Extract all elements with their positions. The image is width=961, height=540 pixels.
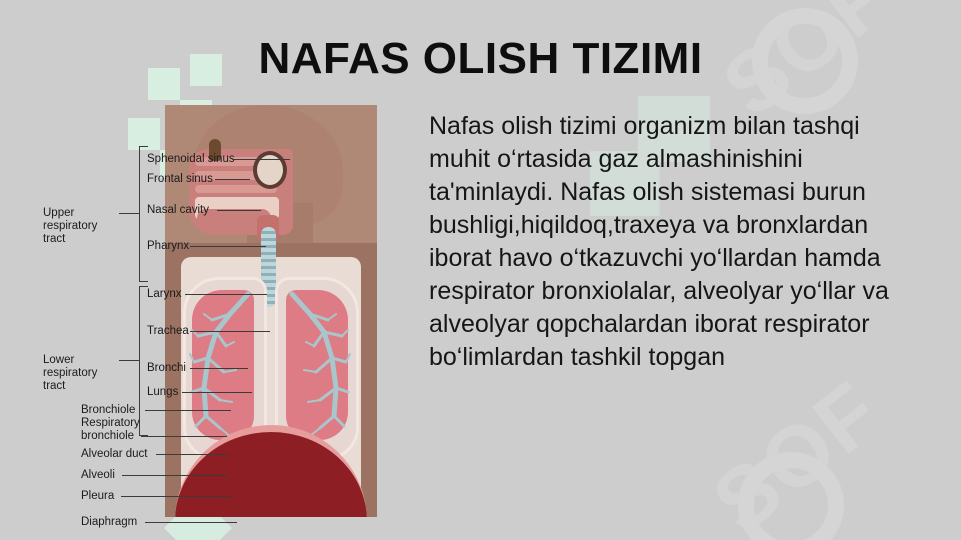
leader-larynx bbox=[185, 294, 267, 295]
lower-tract-bracket bbox=[139, 286, 148, 436]
label-pharynx: Pharynx bbox=[147, 240, 189, 253]
leader-alveoli bbox=[122, 475, 228, 476]
slide-canvas: SOF SOF NAFAS OLISH TIZIMI Nafas olish t… bbox=[0, 0, 961, 540]
leader-sphenoidal-sinus bbox=[232, 159, 290, 160]
label-bronchiole: Bronchiole bbox=[81, 404, 135, 417]
leader-bronchi bbox=[190, 368, 248, 369]
label-frontal-sinus: Frontal sinus bbox=[147, 173, 213, 186]
label-alveoli: Alveoli bbox=[81, 469, 115, 482]
label-bronchi: Bronchi bbox=[147, 362, 186, 375]
label-upper-line3: tract bbox=[43, 233, 65, 245]
label-lower-line1: Lower bbox=[43, 354, 74, 366]
leader-pharynx bbox=[190, 246, 266, 247]
watermark-text-bottom-right: SOF bbox=[695, 362, 900, 540]
nasal-opening bbox=[253, 151, 287, 189]
upper-tract-bracket-stem bbox=[119, 213, 140, 214]
anatomy-illustration bbox=[165, 105, 377, 517]
label-larynx: Larynx bbox=[147, 288, 182, 301]
lower-tract-bracket-stem bbox=[119, 360, 140, 361]
leader-pleura bbox=[121, 496, 231, 497]
label-diaphragm: Diaphragm bbox=[81, 516, 137, 529]
label-upper-line1: Upper bbox=[43, 207, 74, 219]
label-nasal-cavity: Nasal cavity bbox=[147, 204, 209, 217]
leader-bronchiole bbox=[145, 410, 231, 411]
label-upper-line2: respiratory bbox=[43, 220, 97, 232]
respiratory-system-diagram: Upper respiratory tract Lower respirator… bbox=[35, 100, 375, 515]
leader-lungs bbox=[182, 392, 252, 393]
label-sphenoidal-sinus: Sphenoidal sinus bbox=[147, 153, 235, 166]
label-alveolar-duct: Alveolar duct bbox=[81, 448, 147, 461]
label-trachea: Trachea bbox=[147, 325, 189, 338]
leader-alveolar-duct bbox=[156, 454, 228, 455]
label-lower-line3: tract bbox=[43, 380, 65, 392]
leader-frontal-sinus bbox=[215, 179, 250, 180]
label-respiratory-bronchiole-line1: Respiratory bbox=[81, 417, 140, 430]
watermark-ring-bottom-right bbox=[738, 452, 844, 540]
label-lower-line2: respiratory bbox=[43, 367, 97, 379]
leader-respiratory-bronchiole bbox=[141, 436, 227, 437]
body-paragraph: Nafas olish tizimi organizm bilan tashqi… bbox=[429, 110, 924, 374]
page-title: NAFAS OLISH TIZIMI bbox=[0, 36, 961, 82]
leader-nasal-cavity bbox=[217, 210, 261, 211]
leader-diaphragm bbox=[145, 522, 237, 523]
label-lungs: Lungs bbox=[147, 386, 178, 399]
label-upper-respiratory-tract: Upper respiratory tract bbox=[43, 207, 117, 246]
label-lower-respiratory-tract: Lower respiratory tract bbox=[43, 354, 117, 393]
label-respiratory-bronchiole-line2: bronchiole bbox=[81, 430, 134, 443]
label-pleura: Pleura bbox=[81, 490, 114, 503]
leader-trachea bbox=[190, 331, 270, 332]
